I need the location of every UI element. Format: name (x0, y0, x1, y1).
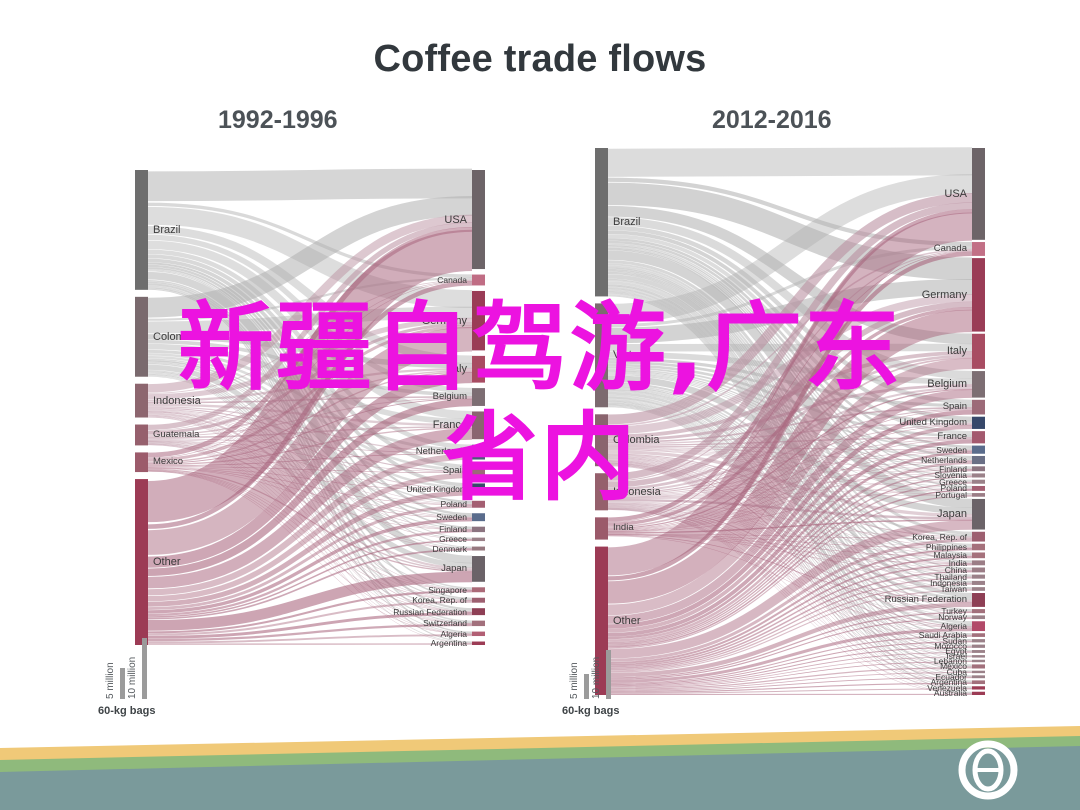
node-label: Sweden (436, 513, 467, 522)
sankey-node[interactable] (472, 587, 485, 592)
sankey-node[interactable] (972, 242, 985, 256)
sankey-node[interactable] (972, 650, 985, 653)
scale-unit-label: 60-kg bags (98, 705, 155, 717)
sankey-node[interactable] (972, 544, 985, 551)
sankey-node[interactable] (972, 593, 985, 607)
overlay-watermark-line1: 新疆自驾游,广东 (0, 300, 1080, 398)
sankey-node[interactable] (972, 567, 985, 572)
scale-bar-5m (584, 674, 589, 699)
sankey-node[interactable] (972, 660, 985, 662)
sankey-node[interactable] (972, 686, 985, 689)
sankey-node[interactable] (972, 664, 985, 668)
sankey-node[interactable] (972, 621, 985, 631)
node-label: Japan (937, 510, 967, 519)
node-label: USA (444, 215, 467, 224)
node-label: Denmark (433, 544, 467, 553)
node-label: Other (153, 558, 181, 567)
sankey-node[interactable] (972, 575, 985, 579)
node-label: Argentina (431, 639, 467, 648)
sankey-node[interactable] (595, 148, 608, 296)
sankey-node[interactable] (472, 170, 485, 269)
sankey-node[interactable] (972, 587, 985, 591)
sankey-node[interactable] (472, 621, 485, 626)
node-label: Australia (934, 689, 967, 698)
node-label: Switzerland (423, 619, 467, 628)
sankey-node[interactable] (972, 560, 985, 565)
sankey-node[interactable] (972, 581, 985, 585)
sankey-node[interactable] (972, 680, 985, 684)
sankey-node[interactable] (472, 275, 485, 286)
scale-tick-10m: 10 million (591, 657, 602, 699)
sankey-node[interactable] (972, 609, 985, 613)
sankey-node[interactable] (472, 598, 485, 603)
scale-bar-10m (606, 650, 611, 700)
page-title: Coffee trade flows (0, 38, 1080, 81)
node-label: Greece (439, 535, 467, 544)
scale-legend-left: 5 million 10 million 60-kg bags (98, 622, 188, 717)
chart-canvas: Coffee trade flows 1992-1996 2012-2016 B… (0, 0, 1080, 810)
node-label: Canada (934, 245, 967, 254)
sankey-node[interactable] (972, 639, 985, 642)
node-label: Finland (439, 525, 467, 534)
sankey-node[interactable] (972, 552, 985, 558)
sankey-node[interactable] (972, 148, 985, 240)
scale-tick-10m: 10 million (127, 657, 138, 699)
sankey-node[interactable] (472, 608, 485, 615)
sankey-node[interactable] (472, 556, 485, 582)
theta-circle-logo[interactable] (956, 738, 1020, 802)
sankey-node[interactable] (595, 517, 608, 539)
sankey-node[interactable] (472, 547, 485, 551)
node-label: Russian Federation (885, 596, 967, 605)
node-label: Brazil (613, 218, 641, 227)
node-label: Korea, Rep. of (912, 532, 967, 541)
sankey-node[interactable] (972, 615, 985, 619)
sankey-node[interactable] (972, 655, 985, 657)
panel-subtitle-left: 1992-1996 (218, 106, 338, 135)
node-label: Brazil (153, 226, 181, 235)
sankey-node[interactable] (972, 532, 985, 542)
scale-legend-right: 5 million 10 million 60-kg bags (562, 622, 652, 717)
node-label: India (613, 524, 634, 533)
sankey-node[interactable] (972, 671, 985, 673)
scale-bar-10m (142, 638, 147, 700)
node-label: Taiwan (941, 585, 967, 594)
overlay-watermark-line2: 省内 (0, 410, 1080, 508)
sankey-node[interactable] (972, 645, 985, 648)
sankey-node[interactable] (472, 642, 485, 645)
node-label: Canada (437, 276, 467, 285)
sankey-node[interactable] (472, 527, 485, 532)
sankey-node[interactable] (472, 513, 485, 521)
scale-tick-5m: 5 million (569, 662, 580, 699)
sankey-node[interactable] (972, 633, 985, 637)
panel-subtitle-right: 2012-2016 (712, 106, 832, 135)
sankey-node[interactable] (472, 632, 485, 636)
scale-tick-5m: 5 million (105, 662, 116, 699)
sankey-node[interactable] (972, 692, 985, 695)
node-label: Germany (922, 291, 967, 300)
sankey-node[interactable] (135, 170, 148, 290)
node-label: Japan (441, 565, 467, 574)
sankey-node[interactable] (972, 675, 985, 678)
node-label: Singapore (428, 586, 467, 595)
node-label: Russian Federation (393, 607, 467, 616)
node-label: USA (944, 190, 967, 199)
scale-bar-5m (120, 668, 125, 699)
bottom-banner (0, 720, 1080, 810)
scale-unit-label: 60-kg bags (562, 705, 619, 717)
node-label: Algeria (441, 630, 467, 639)
sankey-node[interactable] (472, 538, 485, 541)
node-label: Korea, Rep. of (412, 596, 467, 605)
